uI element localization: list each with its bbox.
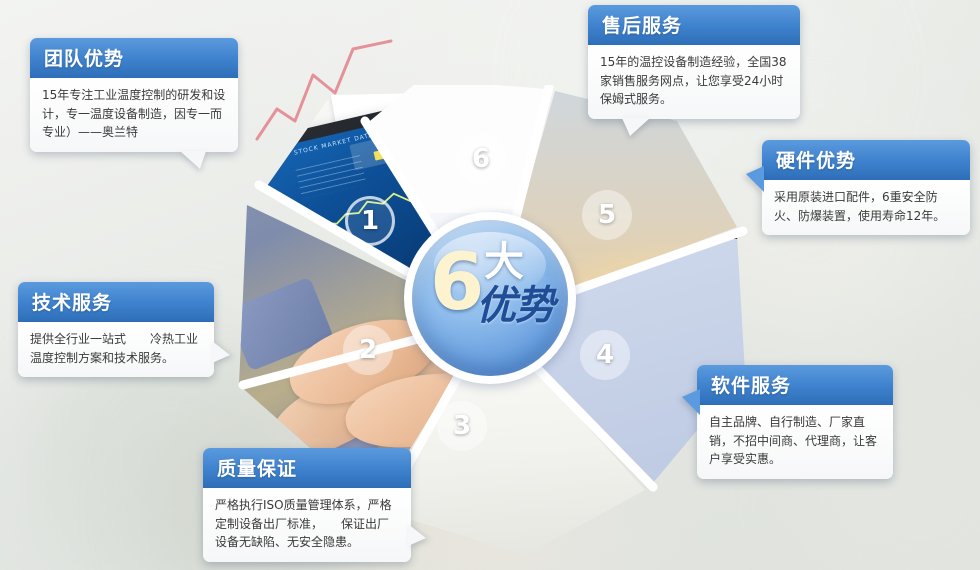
callout-tail — [682, 389, 700, 415]
callout-tail — [180, 151, 206, 169]
segment-number-1[interactable]: 1 — [345, 196, 395, 246]
callout-after-sales-service[interactable]: 售后服务 15年的温控设备制造经验，全国38家销售服务网点，让您享受24小时保姆… — [588, 5, 800, 119]
callout-tail — [212, 341, 230, 363]
center-badge[interactable]: 6 大 优势 — [404, 212, 576, 384]
callout-tail — [408, 524, 426, 546]
segment-number-6[interactable]: 6 — [456, 134, 506, 184]
callout-title-tech: 技术服务 — [18, 282, 214, 322]
callout-hardware-advantage[interactable]: 硬件优势 采用原装进口配件，6重安全防火、防爆装置，使用寿命12年。 — [762, 140, 970, 235]
callout-body-team: 15年专注工业温度控制的研发和设计，专一温度设备制造，因专一而专业）——奥兰特 — [30, 78, 238, 152]
screen-ticker-text: INTC — [249, 185, 269, 197]
segment-number-4[interactable]: 4 — [580, 330, 630, 380]
callout-title-after-sales: 售后服务 — [588, 5, 800, 45]
segment-number-2[interactable]: 2 — [343, 325, 393, 375]
callout-title-software: 软件服务 — [697, 365, 893, 405]
segment-number-5[interactable]: 5 — [582, 190, 632, 240]
center-badge-inner: 6 大 优势 — [412, 220, 568, 376]
segment-number-3[interactable]: 3 — [437, 401, 487, 451]
center-char-youshi: 优势 — [476, 286, 554, 326]
callout-body-hardware: 采用原装进口配件，6重安全防火、防爆装置，使用寿命12年。 — [762, 180, 970, 235]
callout-title-hardware: 硬件优势 — [762, 140, 970, 180]
callout-body-tech: 提供全行业一站式 冷热工业温度控制方案和技术服务。 — [18, 322, 214, 377]
callout-title-team: 团队优势 — [30, 38, 238, 78]
center-char-da: 大 — [484, 242, 524, 282]
callout-tail — [622, 118, 650, 136]
callout-tail — [746, 166, 764, 192]
callout-body-quality: 严格执行ISO质量管理体系，严格定制设备出厂标准， 保证出厂设备无缺陷、无安全隐… — [203, 488, 411, 562]
callout-body-software: 自主品牌、自行制造、厂家直销，不招中间商、代理商，让客户享受实惠。 — [697, 405, 893, 479]
screen-data-rows — [296, 155, 367, 199]
callout-quality-assurance[interactable]: 质量保证 严格执行ISO质量管理体系，严格定制设备出厂标准， 保证出厂设备无缺陷… — [203, 448, 411, 562]
callout-title-quality: 质量保证 — [203, 448, 411, 488]
callout-technical-service[interactable]: 技术服务 提供全行业一站式 冷热工业温度控制方案和技术服务。 — [18, 282, 214, 377]
infographic-canvas: STOCK MARKET DATA INTC — [0, 0, 980, 570]
callout-team-advantage[interactable]: 团队优势 15年专注工业温度控制的研发和设计，专一温度设备制造，因专一而专业）—… — [30, 38, 238, 152]
callout-software-service[interactable]: 软件服务 自主品牌、自行制造、厂家直销，不招中间商、代理商，让客户享受实惠。 — [697, 365, 893, 479]
globe-axis-knob — [277, 109, 297, 135]
callout-body-after-sales: 15年的温控设备制造经验，全国38家销售服务网点，让您享受24小时保姆式服务。 — [588, 45, 800, 119]
